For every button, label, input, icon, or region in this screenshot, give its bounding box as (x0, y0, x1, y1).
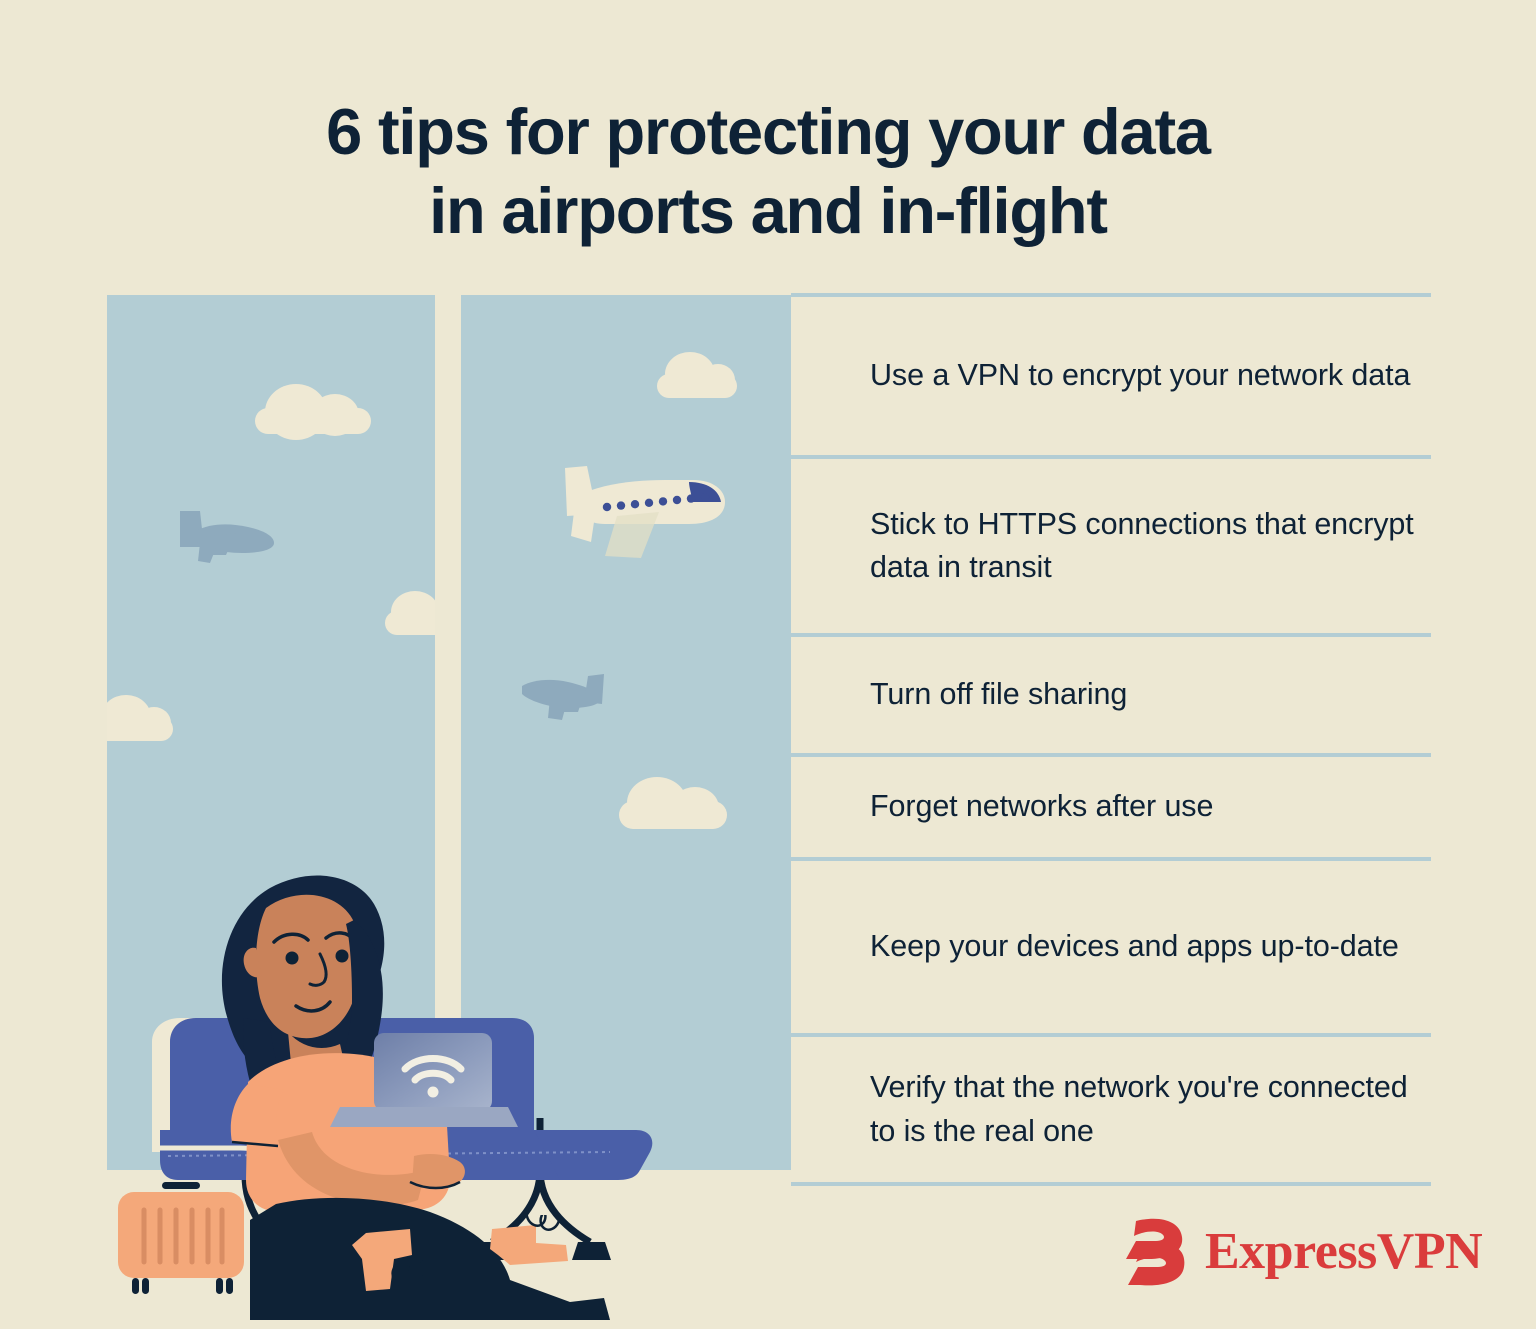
tip-text-1: Use a VPN to encrypt your network data (870, 354, 1410, 397)
tip-text-3: Turn off file sharing (870, 673, 1127, 716)
tip-text-4: Forget networks after use (870, 785, 1213, 828)
airplane-main-icon (561, 460, 733, 570)
airplane-distant-right-icon (516, 670, 608, 732)
tip-text-5: Keep your devices and apps up-to-date (870, 925, 1399, 968)
cloud-icon (619, 771, 727, 829)
tip-text-6: Verify that the network you're connected… (870, 1066, 1431, 1153)
cloud-icon (255, 378, 371, 434)
suitcase (100, 1180, 340, 1329)
cloud-icon (385, 591, 435, 635)
tip-separator (791, 1182, 1431, 1186)
expressvpn-e-mark-icon (1114, 1215, 1188, 1289)
tip-row-6[interactable]: Verify that the network you're connected… (791, 1037, 1431, 1182)
infographic-canvas: 6 tips for protecting your data in airpo… (0, 0, 1536, 1329)
cloud-icon (107, 695, 173, 741)
shoes (340, 1215, 620, 1325)
tip-row-5[interactable]: Keep your devices and apps up-to-date (791, 861, 1431, 1033)
page-title: 6 tips for protecting your data in airpo… (0, 92, 1536, 251)
tip-row-3[interactable]: Turn off file sharing (791, 637, 1431, 753)
expressvpn-wordmark: ExpressVPN (1205, 1226, 1482, 1278)
tip-row-4[interactable]: Forget networks after use (791, 757, 1431, 857)
cloud-icon (657, 352, 737, 398)
tip-row-2[interactable]: Stick to HTTPS connections that encrypt … (791, 459, 1431, 633)
tip-row-1[interactable]: Use a VPN to encrypt your network data (791, 297, 1431, 455)
expressvpn-logo[interactable]: ExpressVPN (1114, 1215, 1482, 1289)
page-title-line-1: 6 tips for protecting your data (0, 92, 1536, 171)
tips-list: Use a VPN to encrypt your network data S… (791, 293, 1431, 1186)
tip-text-2: Stick to HTTPS connections that encrypt … (870, 503, 1431, 590)
laptop (330, 1015, 620, 1145)
airplane-distant-left-icon (170, 507, 280, 575)
page-title-line-2: in airports and in-flight (0, 171, 1536, 250)
